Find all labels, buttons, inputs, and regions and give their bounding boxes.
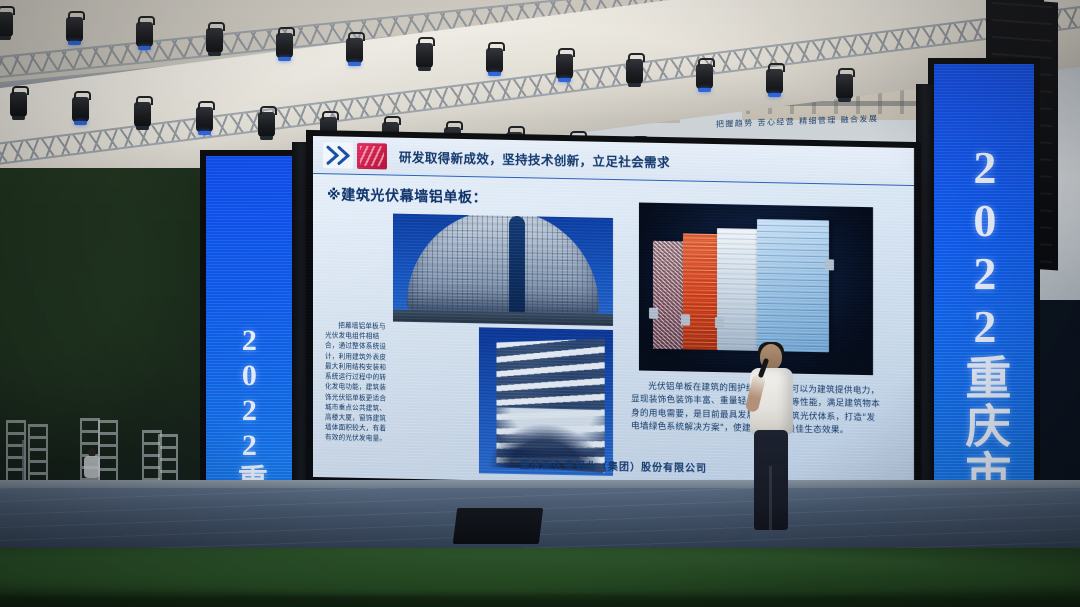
curved-tower-photo: [479, 327, 613, 476]
stage-prop-lattice: [98, 420, 118, 482]
moving-head-light: [556, 54, 573, 79]
panel-sample-blue: [757, 219, 829, 352]
company-x-logo: [323, 142, 353, 169]
dome-building-photo: [393, 214, 613, 326]
moving-head-light: [258, 112, 275, 137]
moving-head-light: [696, 64, 713, 89]
left-banner-text: 2022重庆市江津区全国科普日: [233, 324, 265, 489]
panel-sample-white: [717, 228, 761, 351]
moving-head-light: [136, 22, 153, 47]
moving-head-light: [486, 48, 503, 73]
moving-head-light: [836, 74, 853, 99]
slide-footer-company: 重庆新久泰铝业（集团）股份有限公司: [313, 452, 914, 479]
right-banner-text: 2022重庆市江津区全国科普日: [960, 142, 1009, 494]
moving-head-light: [626, 59, 643, 84]
moving-head-light: [10, 92, 27, 117]
stage-prop-lattice: [28, 424, 48, 486]
presenter-trousers: [754, 430, 788, 530]
moving-head-light: [346, 38, 363, 63]
presentation-slide: 研发取得新成效，坚持技术创新，立足社会需求 ※建筑光伏幕墙铝单板：: [313, 136, 914, 489]
panel-sample-speckled: [653, 241, 687, 350]
moving-head-light: [766, 69, 783, 94]
moving-head-light: [416, 43, 433, 68]
left-led-banner: 2022重庆市江津区全国科普日: [206, 156, 292, 489]
slide-subheading: ※建筑光伏幕墙铝单板：: [327, 184, 487, 207]
moving-head-light: [0, 12, 13, 37]
moving-head-light: [276, 33, 293, 58]
panel-sample-orange: [683, 233, 721, 350]
dome-glass-split: [509, 216, 525, 314]
panel-mounting-tab: [825, 259, 834, 270]
person-body: [84, 456, 100, 478]
brand-red-logo: [357, 143, 387, 170]
moving-head-light: [134, 102, 151, 127]
main-led-screen: 研发取得新成效，坚持技术创新，立足社会需求 ※建筑光伏幕墙铝单板：: [306, 130, 921, 494]
moving-head-light: [72, 97, 89, 122]
moving-head-light: [206, 28, 223, 53]
panel-mounting-tab: [681, 314, 690, 325]
stage-photograph: 2022重庆市江津区全国科普日 2022重庆市江津区全国科普日 研发取得新成效，…: [0, 0, 1080, 607]
foreground-hedge: [0, 548, 1080, 607]
panel-mounting-tab: [649, 308, 658, 319]
right-led-banner: 2022重庆市江津区全国科普日: [934, 64, 1034, 494]
panel-mounting-tab: [715, 317, 724, 328]
slide-paragraph-left: 把幕墙铝单板与光伏发电组件相结合，通过整体系统设计，利用建筑外表皮最大利用结构安…: [325, 320, 391, 444]
moving-head-light: [66, 17, 83, 42]
presenter: [741, 344, 803, 532]
dome-shell: [407, 214, 599, 316]
stage-monitor-speaker: [453, 508, 543, 544]
moving-head-light: [196, 107, 213, 132]
